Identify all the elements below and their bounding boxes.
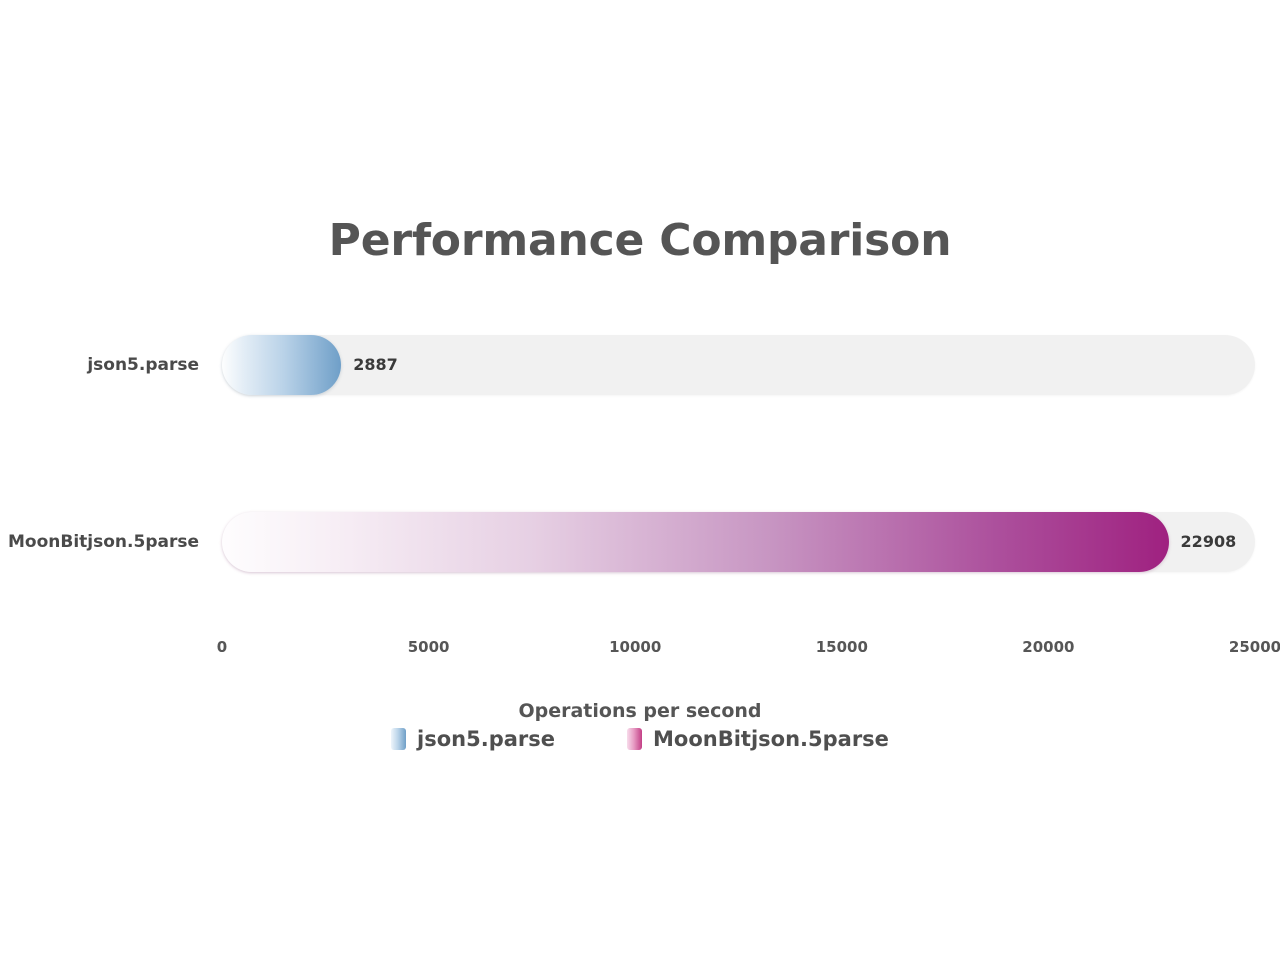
- bar-value-label-moonbitjson-5parse: 22908: [1181, 512, 1237, 572]
- x-tick-label: 15000: [816, 638, 868, 656]
- legend-swatch-icon: [627, 728, 642, 750]
- chart-legend: json5.parse MoonBitjson.5parse: [0, 727, 1280, 751]
- category-label-json5-parse: json5.parse: [0, 335, 199, 395]
- performance-comparison-chart: Performance Comparison json5.parse 2887 …: [0, 0, 1280, 960]
- x-tick-label: 5000: [408, 638, 450, 656]
- legend-label: json5.parse: [417, 727, 555, 751]
- bar-row: json5.parse 2887: [0, 335, 1280, 395]
- bar-fill-moonbitjson-5parse[interactable]: [222, 512, 1169, 572]
- legend-label: MoonBitjson.5parse: [653, 727, 889, 751]
- x-tick-label: 25000: [1229, 638, 1280, 656]
- x-tick-label: 0: [217, 638, 227, 656]
- x-axis-tick-labels: 0500010000150002000025000: [0, 638, 1280, 660]
- legend-item-json5-parse[interactable]: json5.parse: [391, 727, 555, 751]
- bar-track: [222, 512, 1255, 572]
- plot-area: json5.parse 2887 MoonBitjson.5parse 2290…: [0, 0, 1280, 960]
- x-axis-title: Operations per second: [0, 700, 1280, 722]
- x-tick-label: 10000: [609, 638, 661, 656]
- bar-row: MoonBitjson.5parse 22908: [0, 512, 1280, 572]
- bar-fill-json5-parse[interactable]: [222, 335, 341, 395]
- legend-swatch-icon: [391, 728, 406, 750]
- x-tick-label: 20000: [1022, 638, 1074, 656]
- legend-item-moonbitjson-5parse[interactable]: MoonBitjson.5parse: [627, 727, 889, 751]
- category-label-moonbitjson-5parse: MoonBitjson.5parse: [0, 512, 199, 572]
- bar-value-label-json5-parse: 2887: [353, 335, 398, 395]
